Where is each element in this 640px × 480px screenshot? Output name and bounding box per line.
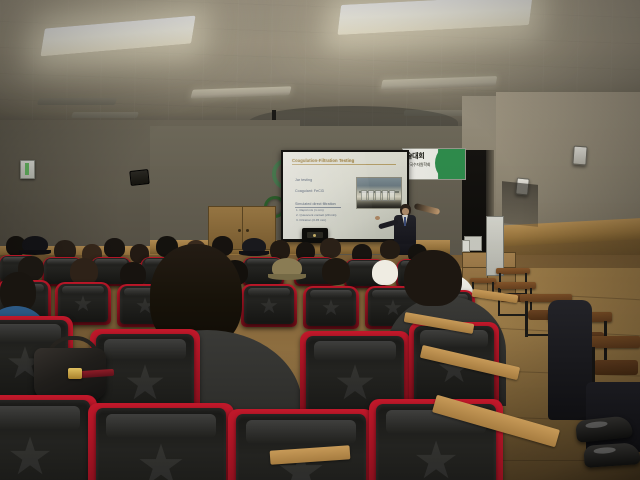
- seat-front-2[interactable]: ★: [96, 408, 226, 480]
- ceiling-light-dim-3: [37, 98, 117, 105]
- handbag[interactable]: [34, 338, 106, 400]
- seat-mid-5[interactable]: ★: [244, 286, 294, 324]
- shoe-right: [583, 442, 640, 468]
- exit-sign: [20, 160, 35, 179]
- whiteboard-panel: [486, 216, 504, 276]
- audience-head-mid-2: [70, 258, 98, 285]
- presenter-hand: [375, 216, 380, 220]
- audience-head-white-cap: [372, 260, 398, 285]
- presenter-face: [402, 208, 409, 215]
- audience-head-far-11: [320, 238, 341, 258]
- presenter-tie: [404, 217, 406, 226]
- audience-head-near-right: [404, 250, 462, 306]
- wall-speaker-right-2: [572, 146, 587, 166]
- audience-head-mid-6: [322, 258, 350, 285]
- conference-banner: 술대회 한국수자원학회: [402, 148, 466, 180]
- wall-speaker-left: [129, 169, 149, 186]
- wall-panel-right: [502, 181, 538, 227]
- lecture-hall-photo: 술대회 한국수자원학회 Coagulation-Filtration Testi…: [0, 0, 640, 480]
- audience-cap-1: [22, 236, 48, 253]
- audience-head-far-4: [104, 238, 125, 258]
- seat-front-1[interactable]: ★: [0, 400, 90, 480]
- audience-cap-2: [242, 238, 266, 254]
- ceiling-light-dim-4: [71, 112, 139, 118]
- seat-mid-6[interactable]: ★: [306, 288, 356, 326]
- paper-stack: [462, 240, 470, 252]
- audience-cap-beige: [272, 258, 302, 278]
- banner-line-2: 한국수자원학회: [406, 162, 430, 168]
- audience-head-far-13: [380, 240, 400, 259]
